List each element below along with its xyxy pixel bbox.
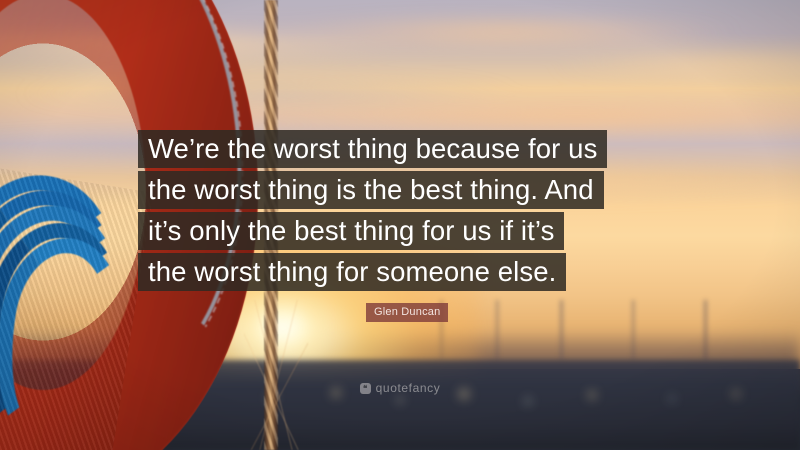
quotefancy-watermark[interactable]: ❝ quotefancy [0,381,800,395]
quote-line: the worst thing is the best thing. And [138,171,604,209]
quote-line: We’re the worst thing because for us [138,130,607,168]
quote-poster-canvas: We’re the worst thing because for us the… [0,0,800,450]
quote-mark-icon: ❝ [360,383,371,394]
hanging-rope-frays [244,300,308,450]
author-name: Glen Duncan [366,303,448,322]
quote-text-block: We’re the worst thing because for us the… [138,130,668,294]
quote-line: the worst thing for someone else. [138,253,566,291]
quote-line: it’s only the best thing for us if it’s [138,212,564,250]
watermark-label: quotefancy [376,381,441,395]
